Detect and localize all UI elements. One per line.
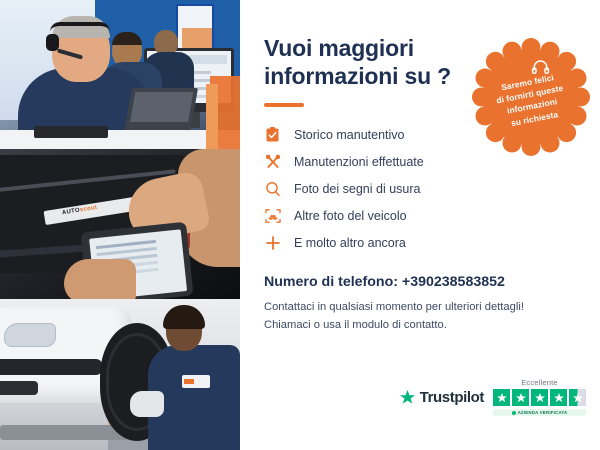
list-item-label: Manutenzioni effettuate — [294, 155, 424, 169]
contact-text-line-2: Chiamaci o usa il modulo di contatto. — [264, 317, 578, 334]
call-center-agents-photo — [0, 0, 240, 149]
promo-banner: AUTOscout — [0, 0, 600, 450]
list-item-label: E molto altro ancora — [294, 236, 406, 250]
keyboard — [34, 126, 108, 138]
trustpilot-score-block: Eccellente — [493, 378, 586, 416]
photo-column: AUTOscout — [0, 0, 240, 450]
star-filled — [531, 389, 548, 406]
trustpilot-star-icon — [399, 389, 416, 406]
plus-icon — [264, 234, 281, 251]
mechanic-glove — [130, 391, 164, 417]
list-item: Foto dei segni di usura — [264, 175, 578, 202]
verified-check-icon — [512, 411, 516, 415]
car-scan-icon — [264, 207, 281, 224]
list-item-label: Foto dei segni di usura — [294, 182, 420, 196]
laptop — [124, 88, 198, 134]
rating-label: Eccellente — [493, 378, 586, 387]
headlight — [4, 323, 56, 347]
headset-band — [50, 22, 110, 32]
lower-grille — [0, 381, 38, 395]
inspector-hand-2 — [64, 259, 136, 299]
list-item-label: Altre foto del veicolo — [294, 209, 407, 223]
star-filled — [512, 389, 529, 406]
title-underline-divider — [264, 103, 304, 107]
mechanic-wheel-check-photo — [0, 299, 240, 450]
vehicle-inspection-photo: AUTOscout — [0, 149, 240, 299]
front-grille — [0, 359, 102, 375]
uniform-logo-patch — [182, 375, 210, 388]
ruler-brand-text: AUTOscout — [62, 205, 98, 216]
trustpilot-logo: Trustpilot — [399, 389, 484, 406]
star-filled — [550, 389, 567, 406]
trustpilot-rating[interactable]: Trustpilot Eccellente — [399, 378, 586, 416]
list-item-label: Storico manutentivo — [294, 128, 404, 142]
verified-business-badge: AZIENDA VERIFICATA — [493, 409, 586, 416]
star-half — [569, 389, 586, 406]
star-rating — [493, 389, 586, 406]
tools-cross-icon — [264, 153, 281, 170]
page-title: Vuoi maggiori informazioni su ? — [264, 34, 474, 90]
orange-panel-highlight — [206, 84, 218, 149]
wall-poster — [176, 4, 214, 50]
contact-text-line-1: Contattaci in qualsiasi momento per ulte… — [264, 299, 578, 316]
list-item: E molto altro ancora — [264, 229, 578, 256]
lift-arm — [0, 425, 128, 440]
clipboard-check-icon — [264, 126, 281, 143]
magnifier-icon — [264, 180, 281, 197]
verified-label: AZIENDA VERIFICATA — [518, 410, 568, 415]
phone-number-line[interactable]: Numero di telefono: +390238583852 — [264, 274, 578, 290]
star-filled — [493, 389, 510, 406]
info-request-badge: Saremo felici di fornirti queste informa… — [472, 38, 590, 156]
list-item: Altre foto del veicolo — [264, 202, 578, 229]
trustpilot-wordmark: Trustpilot — [420, 389, 484, 406]
content-panel: Vuoi maggiori informazioni su ? Storico … — [240, 0, 600, 450]
